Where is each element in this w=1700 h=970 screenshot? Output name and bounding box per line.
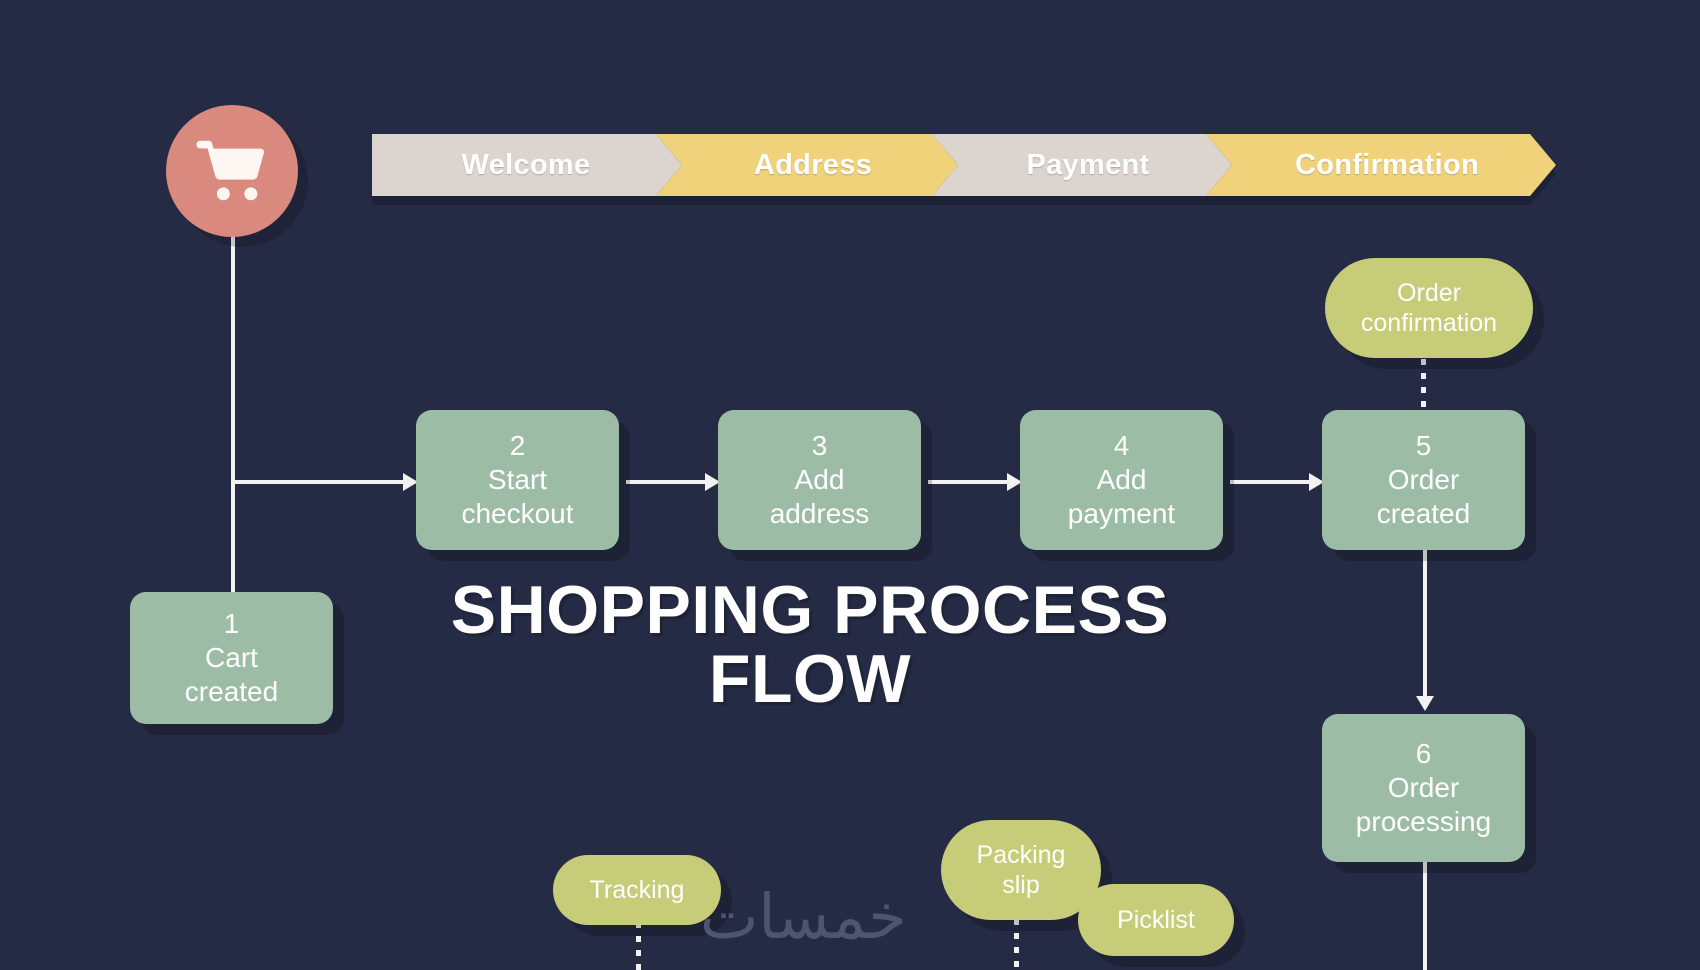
connector-box5-box6: [1423, 548, 1427, 703]
connector-box2-box3: [626, 480, 711, 484]
process-box-2-label-line2: checkout: [461, 497, 573, 531]
pill-picklist-label: Picklist: [1117, 905, 1195, 935]
page-title-line1: SHOPPING PROCESS: [440, 576, 1180, 645]
process-box-3-label-line2: address: [770, 497, 870, 531]
process-box-1-label-line1: Cart: [205, 641, 258, 675]
arrowhead-to-box6: [1416, 696, 1434, 711]
process-box-6[interactable]: 6 Order processing: [1322, 714, 1525, 862]
page-title-line2: FLOW: [440, 645, 1180, 714]
process-box-1-label-line2: created: [185, 675, 278, 709]
process-box-5-label-line2: created: [1377, 497, 1470, 531]
connector-box6-down: [1423, 862, 1427, 970]
shopping-cart-badge: [166, 105, 298, 237]
process-box-4-number: 4: [1114, 429, 1130, 463]
breadcrumb-step-address[interactable]: Address: [656, 134, 958, 196]
connector-box3-box4: [928, 480, 1013, 484]
process-box-6-label-line1: Order: [1388, 771, 1460, 805]
pill-picklist[interactable]: Picklist: [1078, 884, 1234, 956]
process-box-6-number: 6: [1416, 737, 1432, 771]
shopping-cart-icon: [195, 134, 269, 208]
connector-cart-vertical: [231, 225, 235, 605]
page-title: SHOPPING PROCESS FLOW: [440, 576, 1180, 715]
process-box-2-number: 2: [510, 429, 526, 463]
breadcrumb-step-welcome[interactable]: Welcome: [372, 134, 682, 196]
process-box-6-label-line2: processing: [1356, 805, 1491, 839]
process-box-2-label-line1: Start: [488, 463, 547, 497]
process-box-4-label-line1: Add: [1097, 463, 1147, 497]
process-box-3-number: 3: [812, 429, 828, 463]
process-box-4[interactable]: 4 Add payment: [1020, 410, 1223, 550]
connector-box4-box5: [1230, 480, 1315, 484]
pill-order-confirmation-line1: Order: [1397, 278, 1461, 308]
pill-packing-slip-line2: slip: [1002, 870, 1040, 900]
process-box-1-number: 1: [224, 607, 240, 641]
process-box-5[interactable]: 5 Order created: [1322, 410, 1525, 550]
pill-tracking-label: Tracking: [590, 875, 685, 905]
process-box-5-number: 5: [1416, 429, 1432, 463]
breadcrumb-step-confirmation[interactable]: Confirmation: [1206, 134, 1556, 196]
breadcrumb: Welcome Address Payment Confirmation: [372, 134, 1556, 196]
connector-cart-to-box2: [231, 480, 411, 484]
pill-tracking[interactable]: Tracking: [553, 855, 721, 925]
pill-packing-slip[interactable]: Packing slip: [941, 820, 1101, 920]
process-box-1[interactable]: 1 Cart created: [130, 592, 333, 724]
pill-packing-slip-line1: Packing: [977, 840, 1066, 870]
diagram-canvas: Welcome Address Payment Confirmation 1 C…: [0, 0, 1700, 970]
pill-order-confirmation[interactable]: Order confirmation: [1325, 258, 1533, 358]
process-box-2[interactable]: 2 Start checkout: [416, 410, 619, 550]
breadcrumb-step-payment[interactable]: Payment: [932, 134, 1232, 196]
process-box-4-label-line2: payment: [1068, 497, 1175, 531]
pill-order-confirmation-line2: confirmation: [1361, 308, 1497, 338]
process-box-3[interactable]: 3 Add address: [718, 410, 921, 550]
process-box-3-label-line1: Add: [795, 463, 845, 497]
process-box-5-label-line1: Order: [1388, 463, 1460, 497]
watermark: خمسات: [700, 880, 907, 953]
